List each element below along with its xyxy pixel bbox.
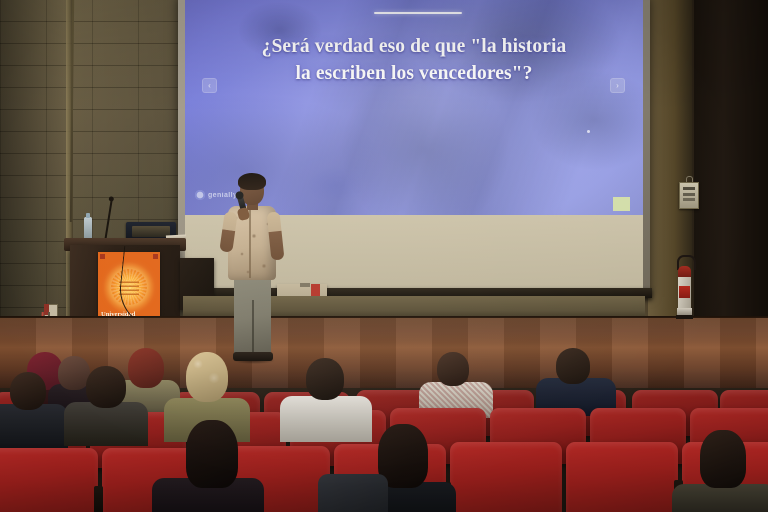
fire-extinguisher-label [679,286,690,298]
slide-dot-marker [587,130,590,133]
seat[interactable] [0,448,98,512]
slide-title-line-1: ¿Será verdad eso de que "la historia [209,34,619,61]
speaker-leg-seam [252,300,254,358]
seat-armrest [94,486,103,512]
speaker-shoes [233,352,273,361]
attendee-head [700,430,746,488]
attendee-head [556,348,590,384]
stage-box-plate [300,283,310,287]
slide-corner-chip [613,197,630,211]
fire-extinguisher-stand [676,315,693,319]
slide-title: ¿Será verdad eso de que "la historia la … [209,34,619,88]
attendee-head [128,348,164,388]
backpack [318,474,388,512]
attendee-head [306,358,344,400]
attendee-body [672,484,768,512]
slide-brand-label: genially [208,192,237,199]
speaker-shirt-placket [249,208,251,278]
attendee-head [437,352,469,386]
seat[interactable] [566,442,678,512]
auditorium-photo: ¿Será verdad eso de que "la historia la … [0,0,768,512]
speaker-hair [238,173,266,190]
banner-corner-left [100,254,105,259]
circle-logo-icon [195,190,205,200]
slide-prev-arrow-icon[interactable]: ‹ [202,78,217,93]
seat[interactable] [450,442,562,512]
slide-brand-watermark: genially [195,190,237,200]
attendee-head [186,352,228,402]
attendee-head [86,366,126,408]
slide-next-arrow-icon[interactable]: › [610,78,625,93]
attendee-head [186,420,238,488]
fire-extinguisher [676,264,693,322]
slide-title-line-2: la escriben los vencedores"? [209,61,619,88]
attendee-body [0,404,68,448]
stage-box-red-marker [311,284,320,296]
attendee-body [280,396,372,442]
right-dark-recess [694,0,768,356]
wall-notice-sign [679,182,699,209]
attendee-body [64,402,148,446]
attendee-head [10,372,46,410]
slide-divider-rule [374,12,462,14]
